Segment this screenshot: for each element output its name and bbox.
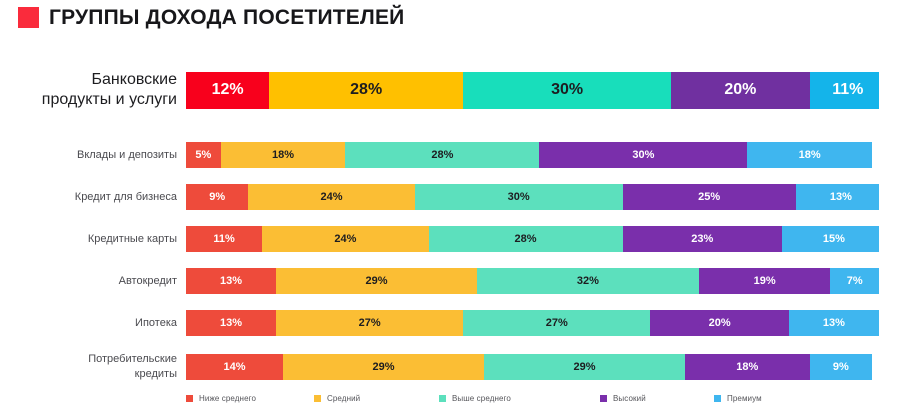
stacked-bar: 13%27%27%20%13% bbox=[186, 310, 879, 336]
bar-segment[interactable]: 28% bbox=[269, 72, 463, 109]
bar-segment[interactable]: 12% bbox=[186, 72, 269, 109]
bar-segment[interactable]: 30% bbox=[539, 142, 747, 168]
legend-label: Средний bbox=[327, 394, 360, 403]
chart-row: Кредит для бизнеса9%24%30%25%13% bbox=[0, 184, 900, 210]
stacked-bar: 14%29%29%18%9% bbox=[186, 354, 879, 380]
legend-item[interactable]: Выше среднего bbox=[439, 394, 511, 403]
legend-swatch-icon bbox=[186, 395, 193, 402]
chart-row: Вклады и депозиты5%18%28%30%18% bbox=[0, 142, 900, 168]
bar-segment[interactable]: 24% bbox=[262, 226, 428, 252]
legend-swatch-icon bbox=[439, 395, 446, 402]
bar-segment[interactable]: 9% bbox=[186, 184, 248, 210]
bar-segment[interactable]: 25% bbox=[623, 184, 796, 210]
legend-label: Ниже среднего bbox=[199, 394, 256, 403]
bar-segment[interactable]: 23% bbox=[623, 226, 782, 252]
row-label: Потребительские кредиты bbox=[0, 352, 186, 382]
legend-item[interactable]: Высокий bbox=[600, 394, 646, 403]
bar-segment[interactable]: 13% bbox=[186, 310, 276, 336]
plot-area: Банковские продукты и услуги12%28%30%20%… bbox=[0, 62, 900, 392]
bar-segment[interactable]: 27% bbox=[276, 310, 463, 336]
chart-row: Автокредит13%29%32%19%7% bbox=[0, 268, 900, 294]
bar-segment[interactable]: 29% bbox=[283, 354, 484, 380]
legend-swatch-icon bbox=[714, 395, 721, 402]
bar-segment[interactable]: 18% bbox=[685, 354, 810, 380]
bar-segment[interactable]: 29% bbox=[484, 354, 685, 380]
stacked-bar: 12%28%30%20%11% bbox=[186, 72, 879, 109]
stacked-bar: 5%18%28%30%18% bbox=[186, 142, 879, 168]
bar-segment[interactable]: 30% bbox=[415, 184, 623, 210]
bar-segment[interactable]: 28% bbox=[345, 142, 539, 168]
bar-segment[interactable]: 18% bbox=[221, 142, 346, 168]
title-bullet-icon bbox=[18, 7, 39, 28]
legend-swatch-icon bbox=[314, 395, 321, 402]
bar-segment[interactable]: 19% bbox=[699, 268, 831, 294]
bar-segment[interactable]: 32% bbox=[477, 268, 699, 294]
bar-segment[interactable]: 11% bbox=[186, 226, 262, 252]
chart-row: Кредитные карты11%24%28%23%15% bbox=[0, 226, 900, 252]
chart-title: ГРУППЫ ДОХОДА ПОСЕТИТЕЛЕЙ bbox=[18, 7, 404, 28]
row-label: Кредитные карты bbox=[0, 232, 186, 247]
stacked-bar: 11%24%28%23%15% bbox=[186, 226, 879, 252]
stacked-bar: 9%24%30%25%13% bbox=[186, 184, 879, 210]
bar-segment[interactable]: 20% bbox=[671, 72, 810, 109]
bar-segment[interactable]: 13% bbox=[796, 184, 879, 210]
chart-row: Ипотека13%27%27%20%13% bbox=[0, 310, 900, 336]
page-title: ГРУППЫ ДОХОДА ПОСЕТИТЕЛЕЙ bbox=[49, 7, 404, 28]
bar-segment[interactable]: 5% bbox=[186, 142, 221, 168]
stacked-bar: 13%29%32%19%7% bbox=[186, 268, 879, 294]
legend-swatch-icon bbox=[600, 395, 607, 402]
bar-segment[interactable]: 24% bbox=[248, 184, 414, 210]
bar-segment[interactable]: 30% bbox=[463, 72, 671, 109]
bar-segment[interactable]: 13% bbox=[789, 310, 879, 336]
bar-segment[interactable]: 27% bbox=[463, 310, 650, 336]
legend-label: Выше среднего bbox=[452, 394, 511, 403]
bar-segment[interactable]: 28% bbox=[429, 226, 623, 252]
legend-label: Высокий bbox=[613, 394, 646, 403]
row-label: Ипотека bbox=[0, 316, 186, 331]
bar-segment[interactable]: 18% bbox=[747, 142, 872, 168]
row-label: Кредит для бизнеса bbox=[0, 190, 186, 205]
bar-segment[interactable]: 13% bbox=[186, 268, 276, 294]
legend-item[interactable]: Средний bbox=[314, 394, 360, 403]
row-label: Банковские продукты и услуги bbox=[0, 70, 186, 110]
bar-segment[interactable]: 15% bbox=[782, 226, 879, 252]
chart-container: ГРУППЫ ДОХОДА ПОСЕТИТЕЛЕЙ Банковские про… bbox=[0, 0, 900, 419]
row-label: Автокредит bbox=[0, 274, 186, 289]
bar-segment[interactable]: 7% bbox=[830, 268, 879, 294]
bar-segment[interactable]: 29% bbox=[276, 268, 477, 294]
legend-item[interactable]: Премиум bbox=[714, 394, 762, 403]
bar-segment[interactable]: 14% bbox=[186, 354, 283, 380]
bar-segment[interactable]: 20% bbox=[650, 310, 789, 336]
row-label: Вклады и депозиты bbox=[0, 148, 186, 163]
legend-label: Премиум bbox=[727, 394, 762, 403]
bar-segment[interactable]: 9% bbox=[810, 354, 872, 380]
chart-row-header: Банковские продукты и услуги12%28%30%20%… bbox=[0, 70, 900, 110]
legend-item[interactable]: Ниже среднего bbox=[186, 394, 256, 403]
chart-row: Потребительские кредиты14%29%29%18%9% bbox=[0, 352, 900, 382]
bar-segment[interactable]: 11% bbox=[810, 72, 879, 109]
